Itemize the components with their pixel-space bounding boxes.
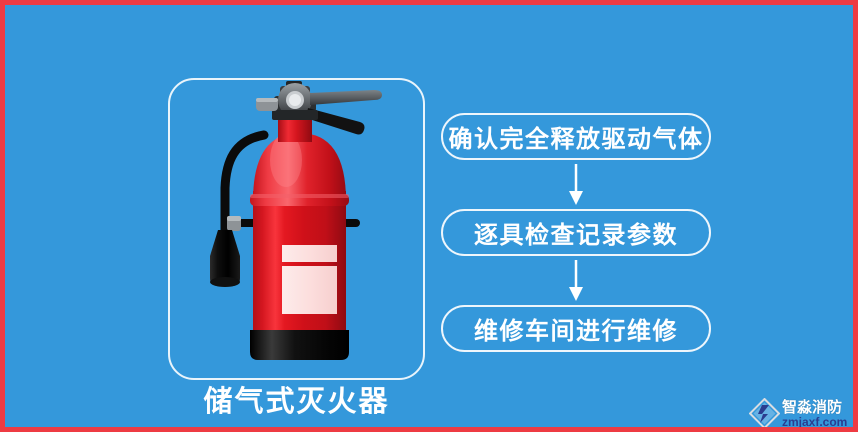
diamond-logo-icon: [749, 398, 780, 429]
watermark-text: 智淼消防 zmjaxf.com: [782, 400, 847, 428]
watermark-brand-url: zmjaxf.com: [782, 416, 847, 428]
flow-step-1[interactable]: 确认完全释放驱动气体: [441, 113, 711, 160]
arrow-step-2-to-3: [441, 256, 711, 305]
arrow-step-1-to-2: [441, 160, 711, 209]
watermark: 智淼消防 zmjaxf.com: [749, 397, 853, 430]
watermark-brand-cn: 智淼消防: [782, 400, 847, 415]
fire-extinguisher-illustration: [168, 78, 425, 380]
flow-step-2[interactable]: 逐具检查记录参数: [441, 209, 711, 256]
process-flow: 确认完全释放驱动气体 逐具检查记录参数 维修车间进行维修: [441, 113, 711, 352]
poster-canvas: 储气式灭火器 确认完全释放驱动气体 逐具检查记录参数 维修车间进行维修: [0, 0, 858, 432]
illustration-caption: 储气式灭火器: [168, 383, 425, 421]
flow-step-3[interactable]: 维修车间进行维修: [441, 305, 711, 352]
